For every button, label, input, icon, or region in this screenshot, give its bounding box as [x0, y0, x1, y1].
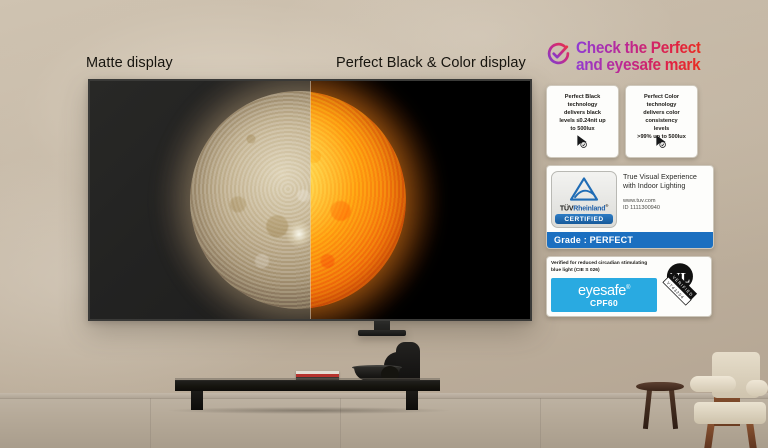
- eyesafe-badge[interactable]: Verified for reduced circadian stimulati…: [546, 256, 712, 317]
- tuv-id: ID 1111300940: [623, 205, 708, 213]
- tuv-claim-box: True Visual Experience with Indoor Light…: [621, 166, 713, 232]
- sun-image-perfect: [310, 81, 530, 319]
- floor-tile-line: [150, 398, 151, 448]
- tuv-triangle-icon: [567, 176, 601, 202]
- room-floor: [0, 398, 768, 448]
- circle-check-icon: [546, 41, 571, 71]
- headline-line-2: and eyesafe mark: [576, 57, 701, 74]
- tuv-rheinland-badge[interactable]: TÜVRheinland® CERTIFIED True Visual Expe…: [546, 165, 714, 249]
- side-table: [636, 382, 684, 391]
- chair-seat: [694, 402, 766, 424]
- tuv-claim-text: True Visual Experience with Indoor Light…: [623, 172, 708, 191]
- promo-headline: Check the Perfect and eyesafe mark: [546, 40, 722, 73]
- tuv-url: www.tuv.com: [623, 198, 708, 206]
- chair-armrest: [746, 380, 768, 396]
- floor-tile-line: [540, 398, 541, 448]
- sun-flare: [286, 221, 310, 247]
- grade-bar: Grade : PERFECT: [547, 232, 713, 248]
- card-line: to 500lux: [551, 125, 614, 133]
- console-table-top: [175, 380, 440, 391]
- product-scene: Matte display Perfect Black & Color disp…: [0, 0, 768, 448]
- card-line: delivers black: [551, 109, 614, 117]
- perfect-color-card[interactable]: Perfect Color technology delivers color …: [625, 85, 698, 158]
- screen-half-perfect: [310, 81, 530, 319]
- eyesafe-wordmark: eyesafe®: [551, 281, 657, 299]
- tuv-logo: TÜVRheinland® CERTIFIED: [551, 171, 617, 228]
- perfect-black-card[interactable]: Perfect Black technology delivers black …: [546, 85, 619, 158]
- chair-armrest: [690, 376, 736, 392]
- screen-half-matte: [90, 81, 310, 319]
- armchair: [690, 352, 768, 448]
- eyesafe-spec: CPF60: [551, 298, 657, 308]
- chair-leg: [746, 422, 757, 448]
- card-line: Perfect Color: [630, 93, 693, 101]
- comparison-divider: [310, 81, 311, 319]
- trademark-mark: ®: [626, 285, 630, 291]
- eyesafe-note: Verified for reduced circadian stimulati…: [551, 261, 655, 274]
- tuv-url-block: www.tuv.com ID 1111300940: [623, 198, 708, 213]
- tuv-brand: TÜV: [560, 205, 573, 212]
- card-line: technology: [551, 101, 614, 109]
- cursor-click-icon: [575, 134, 590, 154]
- tv-stand-foot: [358, 330, 406, 336]
- card-line: levels ≤0.24nit up: [551, 117, 614, 125]
- promo-headline-text: Check the Perfect and eyesafe mark: [576, 40, 701, 73]
- tuv-upper: TÜVRheinland® CERTIFIED True Visual Expe…: [547, 166, 713, 232]
- label-perfect-display: Perfect Black & Color display: [336, 55, 526, 71]
- card-line: levels: [630, 125, 693, 133]
- floor-tile-line: [340, 398, 341, 448]
- television: [88, 79, 532, 321]
- tuv-logo-box: TÜVRheinland® CERTIFIED: [547, 166, 621, 232]
- console-leg: [191, 391, 203, 410]
- card-line: Perfect Black: [551, 93, 614, 101]
- tuv-rheinland: Rheinland: [573, 205, 605, 212]
- console-leg: [406, 391, 418, 410]
- sun-image-matte: [90, 81, 310, 319]
- tuv-certified-badge: CERTIFIED: [555, 214, 613, 224]
- perfect-black-card-text: Perfect Black technology delivers black …: [551, 93, 614, 133]
- floor-wall-seam: [0, 398, 768, 399]
- label-matte-display: Matte display: [86, 55, 173, 71]
- tech-cards: Perfect Black technology delivers black …: [546, 85, 722, 158]
- card-line: delivers color: [630, 109, 693, 117]
- ul-certified-icon: UL VERIFIED V743254: [660, 261, 706, 312]
- cursor-click-icon: [654, 134, 669, 154]
- card-line: technology: [630, 101, 693, 109]
- eyesafe-brand: eyesafe: [578, 282, 626, 298]
- headline-line-1: Check the Perfect: [576, 40, 701, 57]
- eyesafe-band: eyesafe® CPF60: [551, 278, 657, 313]
- certification-panel: Check the Perfect and eyesafe mark Perfe…: [546, 40, 722, 317]
- sculpture: [396, 342, 420, 381]
- registered-mark: ®: [605, 203, 608, 208]
- tuv-wordmark: TÜVRheinland®: [554, 203, 614, 212]
- tv-screen: [90, 81, 530, 319]
- card-line: consistency: [630, 117, 693, 125]
